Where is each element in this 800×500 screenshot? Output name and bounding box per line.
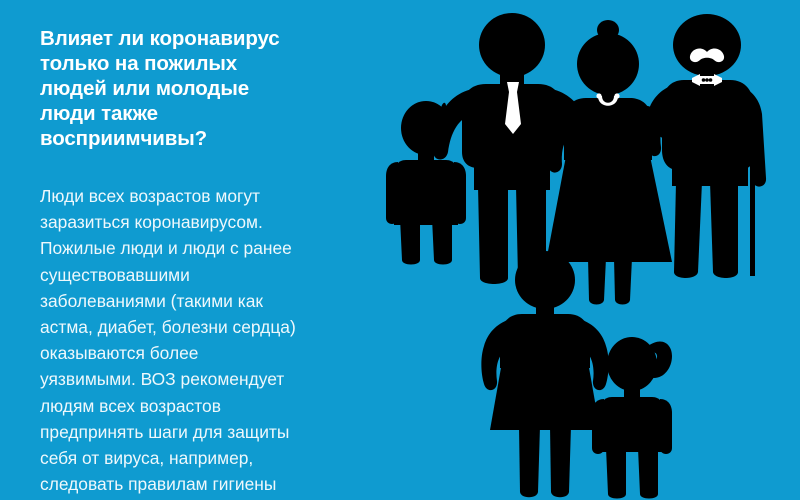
body-line: существовавшими [40,265,190,285]
man-figure [433,13,591,284]
body-line: себя от вируса, например, [40,448,253,468]
girl-figure [592,337,672,499]
headline-line: людей или молодые [40,77,249,100]
body-text: Люди всех возрастов могут заразиться кор… [40,151,360,500]
body-line: Пожилые люди и люди с ранее [40,238,292,258]
text-column: Влияет ли коронавирус только на пожилых … [40,26,360,500]
bowtie-knot [702,78,713,82]
necktie-accent [505,82,521,134]
body-line: людям всех возрастов [40,396,221,416]
body-line: астма, диабет, болезни сердца) [40,317,296,337]
body-line: предпринять шаги для защиты [40,422,289,442]
body-line: оказываются более [40,343,198,363]
page-title: Влияет ли коронавирус только на пожилых … [40,26,360,151]
woman-figure [481,251,608,497]
headline-line: люди также [40,102,158,125]
poster-canvas: Влияет ли коронавирус только на пожилых … [0,0,800,500]
headline-line: только на пожилых [40,52,237,75]
boy-figure [386,101,466,265]
bowtie-accent [692,74,722,86]
body-line: уязвимыми. ВОЗ рекомендует [40,369,284,389]
body-line: Люди всех возрастов могут [40,186,260,206]
mustache-accent [690,49,724,63]
body-line: заболеваниями (такими как [40,291,263,311]
headline-line: Влияет ли коронавирус [40,27,280,50]
elderly-woman-figure [546,20,692,305]
body-line: следовать правилам гигиены [40,474,276,494]
headline-line: восприимчивы? [40,127,207,150]
elderly-man-figure [645,14,766,278]
collar-accent [596,93,619,105]
body-line: заразиться коронавирусом. [40,212,263,232]
